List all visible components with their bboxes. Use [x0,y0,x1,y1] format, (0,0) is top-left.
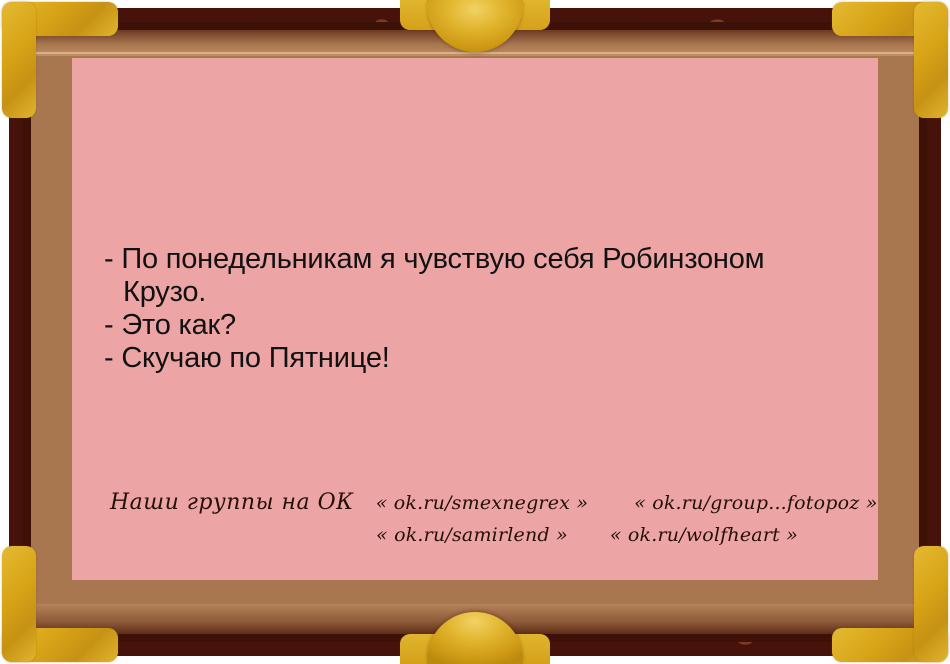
joke-card-image: - По понедельникам я чувствую себя Робин… [0,0,950,664]
joke-line-4: - Скучаю по Пятнице! [104,342,874,375]
bracket-arm-vertical [914,2,948,118]
bracket-arm-vertical [2,2,36,118]
joke-line-1: - По понедельникам я чувствую себя Робин… [104,243,874,276]
groups-signature-block: Наши группы на ОК « ok.ru/smexnegrex » «… [110,487,880,551]
gold-corner-bracket-bottom-right-icon [832,546,948,662]
gold-corner-bracket-top-right-icon [832,2,948,118]
joke-line-2: Крузо. [104,276,874,309]
gold-corner-bracket-top-left-icon [2,2,118,118]
gold-corner-bracket-bottom-left-icon [2,546,118,662]
group-link-fotopoz[interactable]: « ok.ru/group...fotopoz » [634,487,877,519]
gold-dome-ornament-top-icon [400,0,550,54]
signature-label: Наши группы на ОК [110,487,354,519]
bracket-arm-vertical [2,546,36,662]
signature-row-second: « ok.ru/samirlend » « ok.ru/wolfheart » [110,519,880,551]
bracket-arm-vertical [914,546,948,662]
gold-dome-ornament-bottom-icon [400,610,550,664]
joke-line-3: - Это как? [104,309,874,342]
group-link-samirlend[interactable]: « ok.ru/samirlend » [376,519,568,551]
signature-row-first: Наши группы на ОК « ok.ru/smexnegrex » «… [110,487,880,519]
group-link-wolfheart[interactable]: « ok.ru/wolfheart » [610,519,798,551]
ornament-dome [427,612,523,664]
joke-text-block: - По понедельникам я чувствую себя Робин… [104,243,874,375]
group-link-smexnegrex[interactable]: « ok.ru/smexnegrex » [376,487,588,519]
ornament-dome [427,0,523,52]
